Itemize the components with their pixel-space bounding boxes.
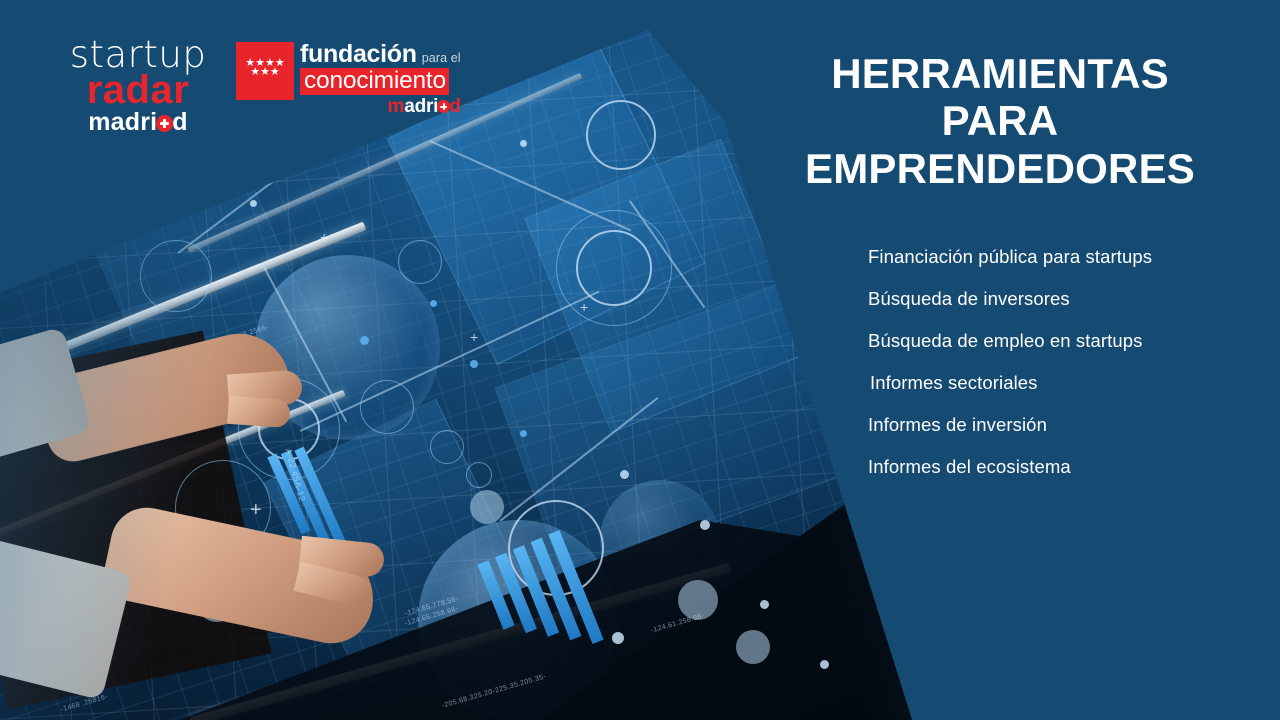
title-line-3: EMPRENDEDORES	[730, 145, 1270, 192]
plus-badge-icon	[156, 115, 173, 132]
fundacion-wordmark: fundación para el conocimiento madrid	[300, 42, 461, 118]
conocimiento-word: conocimiento	[300, 68, 449, 95]
madrid-adri-letters: adri	[404, 96, 438, 117]
title-line-2: PARA	[730, 97, 1270, 144]
list-item: Búsqueda de empleo en startups	[868, 320, 1268, 362]
logo-startup-radar-madrid[interactable]: startup radar madrid	[48, 36, 228, 135]
fundacion-line1: fundación para el	[300, 42, 461, 67]
list-item: Búsqueda de inversores	[868, 278, 1268, 320]
logo-madrid-word: madrid	[48, 109, 228, 135]
list-item: Informes del ecosistema	[868, 446, 1268, 488]
fundacion-word: fundación	[300, 42, 417, 67]
logo-d-text: d	[172, 108, 187, 136]
madrid-d-letter: d	[449, 96, 460, 117]
para-el-word: para el	[422, 52, 461, 65]
list-item: Informes sectoriales	[868, 362, 1268, 404]
fundacion-madrid-word: madrid	[300, 96, 461, 118]
logo-madri-text: madri	[88, 108, 157, 136]
madrid-m-letter: m	[388, 96, 405, 117]
slide-root: + + + + + + -124.65.258.66- -124.65.258.…	[0, 0, 1280, 720]
list-item: Informes de inversión	[868, 404, 1268, 446]
feature-list: Financiación pública para startups Búsqu…	[868, 236, 1268, 488]
flag-stars-bottom: ★★★	[236, 68, 294, 77]
flag-stars: ★★★★ ★★★	[236, 59, 294, 77]
logo-fundacion-conocimiento-madrid[interactable]: ★★★★ ★★★ fundación para el conocimiento …	[236, 42, 461, 118]
madrid-flag-icon: ★★★★ ★★★	[236, 42, 294, 100]
list-item: Financiación pública para startups	[868, 236, 1268, 278]
title-line-1: HERRAMIENTAS	[730, 50, 1270, 97]
page-title: HERRAMIENTAS PARA EMPRENDEDORES	[730, 50, 1270, 192]
